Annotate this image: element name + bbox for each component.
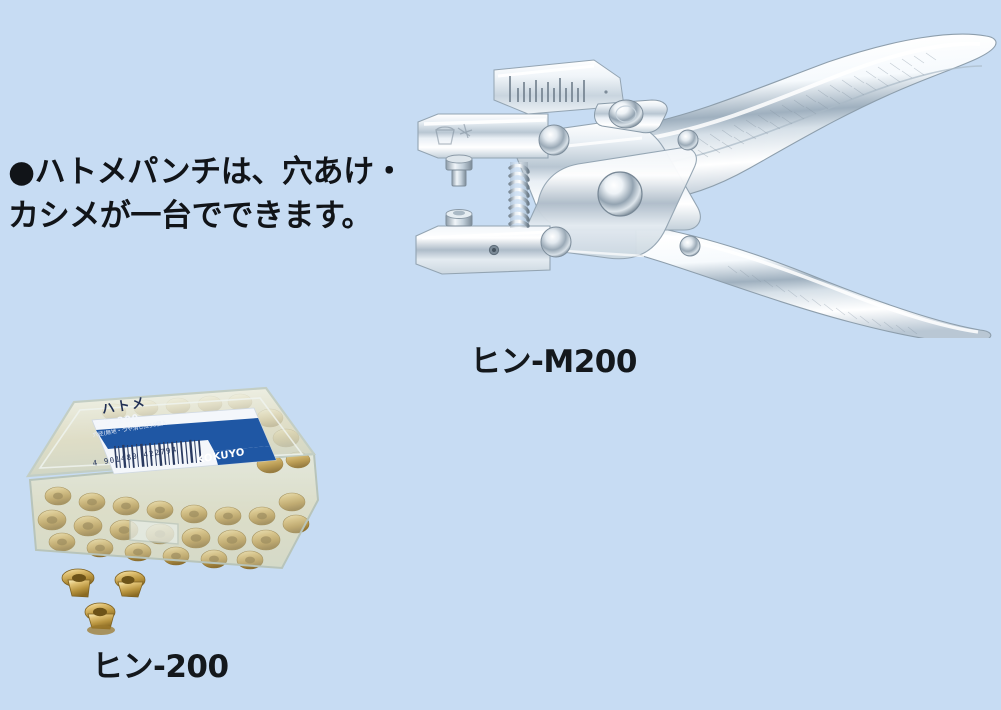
product-image-canvas: ●ハトメパンチは、穴あけ・ カシメが一台でできます。 (0, 0, 1001, 710)
punch-jaw-frame (416, 114, 550, 274)
eyelet-box-illustration (18, 368, 328, 583)
caption-line-1: ●ハトメパンチは、穴あけ・ (8, 150, 428, 194)
product-label-punch: ヒン-M200 (470, 336, 637, 381)
eyelet-3 (85, 603, 115, 635)
punch-spring (510, 162, 528, 228)
caption-text: ●ハトメパンチは、穴あけ・ カシメが一台でできます。 (8, 150, 428, 238)
punch-die-upper (446, 155, 472, 186)
loose-eyelets-illustration (48, 552, 198, 642)
eyelet-2 (115, 571, 145, 597)
eyelet-1 (62, 569, 94, 597)
eyelet-punch-illustration (398, 18, 998, 338)
caption-line-2: カシメが一台でできます。 (8, 194, 428, 238)
product-label-eyelets: ヒン-200 (92, 641, 229, 686)
punch-die-lower (446, 210, 472, 227)
